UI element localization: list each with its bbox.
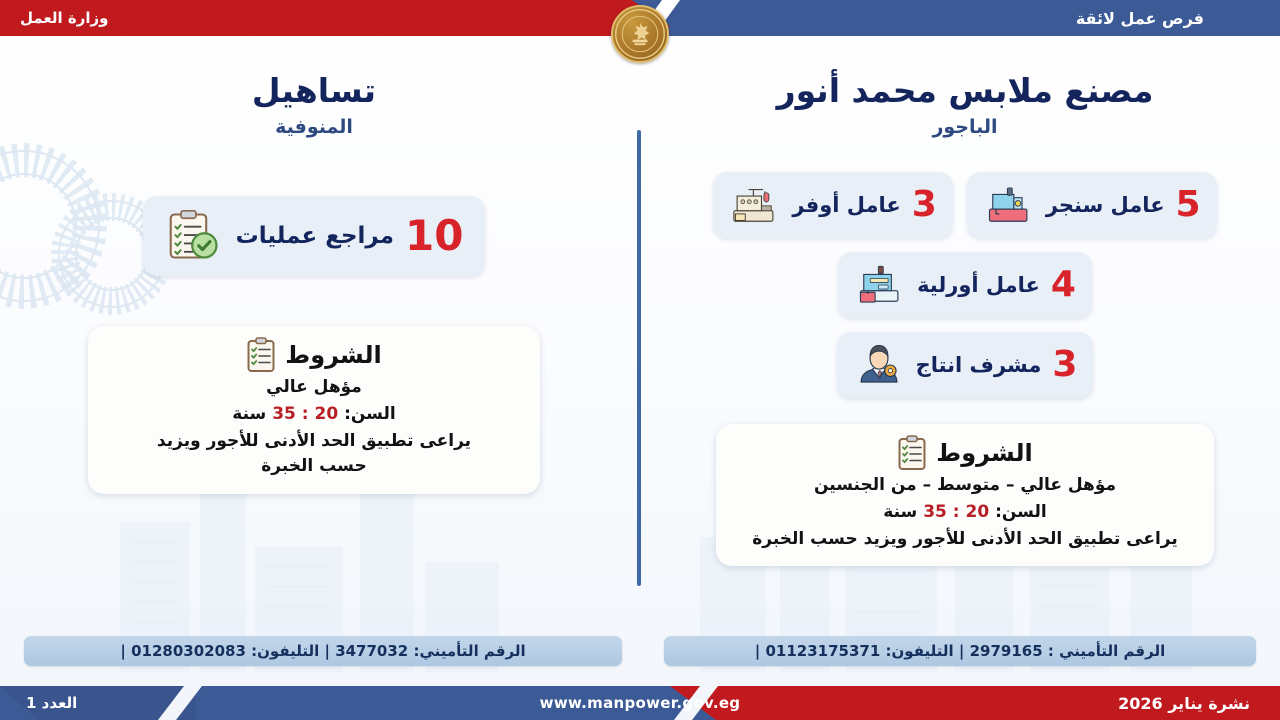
age-suffix: سنة	[883, 502, 923, 522]
clipboard-checklist-icon	[246, 337, 276, 373]
conditions-box: الشروط مؤهل عالي – متوسط – من الجنسين ال…	[716, 424, 1214, 566]
panel-left-subtitle: المنوفية	[0, 116, 628, 138]
conditions-title: الشروط	[285, 341, 381, 369]
supervisor-icon	[853, 341, 905, 389]
clipboard-checklist-icon	[897, 435, 927, 471]
job-count: 3	[912, 187, 937, 223]
infographic-page: وزارة العمل فرص عمل لائقة مصنع ملابس محم…	[0, 0, 1280, 720]
job-title: مراجع عمليات	[236, 223, 394, 249]
conditions-line: مؤهل عالي – متوسط – من الجنسين	[736, 473, 1194, 498]
clipboard-check-icon	[165, 208, 225, 264]
age-prefix: السن:	[338, 404, 396, 424]
conditions-age-line: السن: 20 : 35 سنة	[108, 402, 520, 427]
contact-bar-right: الرقم التأميني : 2979165 | التليفون: 011…	[664, 636, 1256, 666]
conditions-age-line: السن: 20 : 35 سنة	[736, 500, 1194, 525]
job-title: عامل أورلية	[917, 273, 1040, 297]
job-count: 4	[1051, 267, 1076, 303]
issue-label: العدد 1	[26, 686, 77, 720]
contact-bar-left: الرقم التأميني: 3477032 | التليفون: 0128…	[24, 636, 622, 666]
conditions-line: يراعى تطبيق الحد الأدنى للأجور ويزيد حسب…	[736, 527, 1194, 552]
sewing-machine-icon	[854, 261, 906, 309]
conditions-line: يراعى تطبيق الحد الأدنى للأجور ويزيد حسب…	[108, 429, 520, 479]
job-count: 3	[1052, 347, 1077, 383]
age-suffix: سنة	[232, 404, 272, 424]
job-title: عامل أوفر	[792, 193, 900, 217]
job-title: عامل سنجر	[1046, 193, 1165, 217]
contact-text: الرقم التأميني : 2979165 | التليفون: 011…	[755, 642, 1165, 660]
overlock-machine-icon	[729, 181, 781, 229]
ministry-of-labour-seal-icon	[611, 5, 669, 63]
panel-right-subtitle: الباجور	[650, 116, 1280, 138]
ministry-label: وزارة العمل	[20, 0, 109, 36]
sewing-machine-icon	[983, 181, 1035, 229]
job-card[interactable]: 3 عامل أوفر	[713, 172, 952, 238]
job-title: مشرف انتاج	[916, 353, 1042, 377]
job-card[interactable]: 10 مراجع عمليات	[143, 196, 486, 276]
age-prefix: السن:	[989, 502, 1047, 522]
age-range: 20 : 35	[923, 502, 989, 522]
job-count: 5	[1176, 187, 1201, 223]
job-card[interactable]: 5 عامل سنجر	[967, 172, 1217, 238]
job-card[interactable]: 3 مشرف انتاج	[837, 332, 1094, 398]
slogan-label: فرص عمل لائقة	[1076, 0, 1204, 36]
panel-left: تساهيل المنوفية 10 مراجع عمليات	[0, 72, 628, 620]
conditions-box: الشروط مؤهل عالي السن: 20 : 35 سنة يراعى…	[88, 326, 540, 494]
panel-divider	[637, 130, 641, 586]
panel-left-title: تساهيل	[0, 72, 628, 110]
website-link[interactable]: www.manpower.gov.eg	[0, 686, 1280, 720]
job-card[interactable]: 4 عامل أورلية	[838, 252, 1092, 318]
job-count: 10	[405, 215, 463, 257]
panel-right: مصنع ملابس محمد أنور الباجور 5 عامل سنجر…	[650, 72, 1280, 620]
age-range: 20 : 35	[272, 404, 338, 424]
conditions-line: مؤهل عالي	[108, 375, 520, 400]
panel-right-title: مصنع ملابس محمد أنور	[650, 72, 1280, 110]
conditions-title: الشروط	[936, 439, 1032, 467]
contact-text: الرقم التأميني: 3477032 | التليفون: 0128…	[120, 642, 525, 660]
footer-bar: نشرة يناير 2026 www.manpower.gov.eg العد…	[0, 686, 1280, 720]
